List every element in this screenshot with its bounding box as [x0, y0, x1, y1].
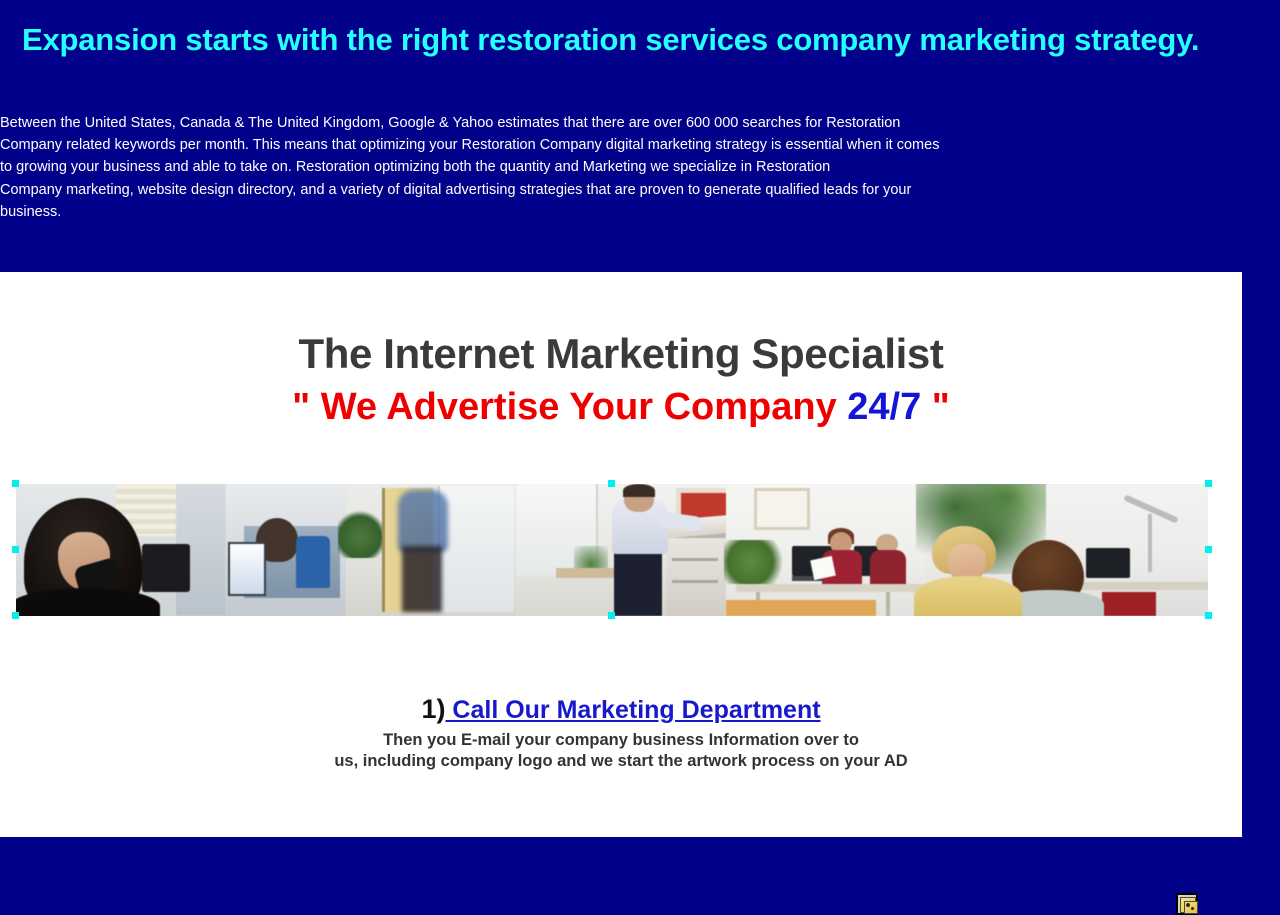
resize-handle-top-right[interactable] [1205, 480, 1212, 487]
heading-sub-accent: 24/7 [847, 386, 921, 428]
document-heading-main: The Internet Marketing Specialist [0, 330, 1242, 378]
heading-sub-suffix: " [921, 386, 950, 428]
resize-handle-middle-right[interactable] [1205, 546, 1212, 553]
picture-icon-dot-small [1191, 907, 1194, 910]
resize-handle-bottom-left[interactable] [12, 612, 19, 619]
marketing-department-link[interactable]: Call Our Marketing Department [445, 696, 820, 724]
resize-handle-top-left[interactable] [12, 480, 19, 487]
footer-instructions: Then you E-mail your company business In… [0, 730, 1242, 772]
resize-handle-bottom-right[interactable] [1205, 612, 1212, 619]
step-number: 1) [421, 694, 445, 724]
heading-sub-prefix: " We Advertise Your Company [292, 386, 847, 428]
photo-segment-walking-man [346, 484, 516, 616]
resize-handle-middle-left[interactable] [12, 546, 19, 553]
resize-handle-bottom-center[interactable] [608, 612, 615, 619]
office-collage-image[interactable] [16, 484, 1208, 616]
page-title: Expansion starts with the right restorat… [22, 20, 1262, 60]
picture-icon-dot-large [1186, 903, 1190, 907]
photo-segment-cubicle [226, 484, 346, 616]
picture-toolbar-icon[interactable] [1176, 893, 1198, 915]
document-heading-sub: " We Advertise Your Company 24/7 " [0, 384, 1242, 430]
photo-segment-meeting [926, 484, 1208, 616]
document-page: The Internet Marketing Specialist " We A… [0, 272, 1242, 837]
banner-image-object[interactable] [16, 484, 1208, 616]
photo-segment-copier-man [516, 484, 726, 616]
hero-banner: Expansion starts with the right restorat… [0, 0, 1280, 272]
photo-segment-open-office [726, 484, 926, 616]
resize-handle-top-center[interactable] [608, 480, 615, 487]
photo-segment-phone-woman [16, 484, 226, 616]
hero-paragraph: Between the United States, Canada & The … [0, 112, 1040, 223]
step-one-line: 1) Call Our Marketing Department [0, 693, 1242, 726]
